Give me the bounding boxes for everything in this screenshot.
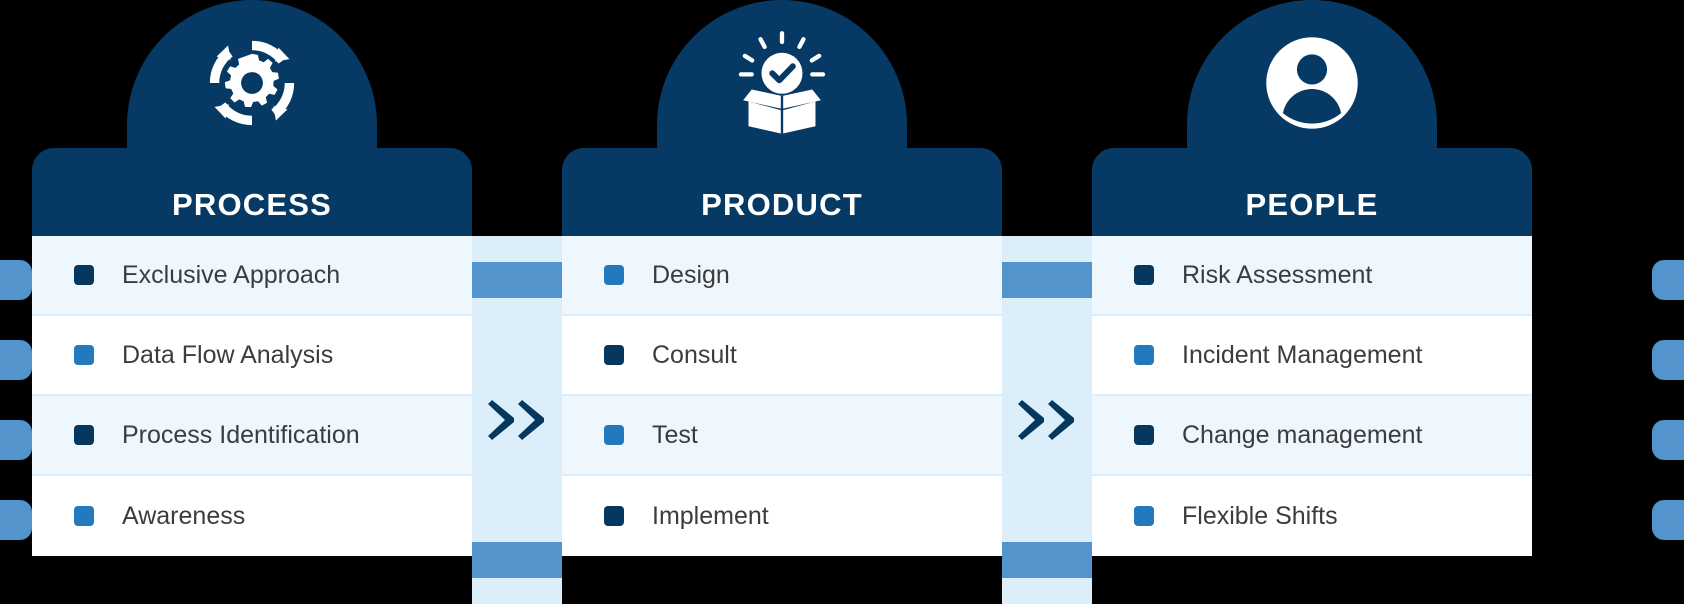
row-list-process: Exclusive Approach Data Flow Analysis Pr…	[32, 236, 472, 604]
connector-band-top	[1002, 262, 1092, 298]
row-label: Process Identification	[122, 423, 360, 448]
table-row[interactable]: Test	[562, 396, 1002, 476]
connector-band-bottom	[472, 542, 562, 578]
table-row[interactable]: Awareness	[32, 476, 472, 556]
table-row[interactable]: Exclusive Approach	[32, 236, 472, 316]
bullet-square-icon	[604, 425, 624, 445]
connector-band-top	[472, 262, 562, 298]
table-row[interactable]: Consult	[562, 316, 1002, 396]
column-title-product: PRODUCT	[701, 189, 863, 220]
table-row[interactable]: Flexible Shifts	[1092, 476, 1532, 556]
row-label: Test	[652, 423, 698, 448]
infographic-canvas: PROCESS Exclusive Approach Data Flow Ana…	[0, 0, 1684, 604]
row-label: Consult	[652, 343, 737, 368]
connector-process-to-product	[472, 236, 562, 604]
table-row[interactable]: Design	[562, 236, 1002, 316]
column-title-process: PROCESS	[172, 189, 332, 220]
edge-tab-left	[0, 420, 32, 460]
bullet-square-icon	[604, 265, 624, 285]
edge-tab-left	[0, 340, 32, 380]
row-list-product: Design Consult Test Implement	[562, 236, 1002, 604]
column-people: PEOPLE Risk Assessment Incident Manageme…	[1092, 0, 1532, 604]
bullet-square-icon	[604, 345, 624, 365]
process-gear-cycle-icon	[197, 28, 307, 138]
table-row[interactable]: Process Identification	[32, 396, 472, 476]
bullet-square-icon	[1134, 506, 1154, 526]
table-row[interactable]: Risk Assessment	[1092, 236, 1532, 316]
bullet-square-icon	[1134, 265, 1154, 285]
edge-tab-left	[0, 260, 32, 300]
bullet-square-icon	[74, 506, 94, 526]
people-person-avatar-icon	[1257, 28, 1367, 138]
header-bar-process: PROCESS	[32, 148, 472, 236]
row-label: Exclusive Approach	[122, 263, 340, 288]
row-label: Implement	[652, 504, 769, 529]
bullet-square-icon	[74, 425, 94, 445]
table-row[interactable]: Change management	[1092, 396, 1532, 476]
double-chevron-right-icon	[1016, 400, 1078, 440]
row-label: Change management	[1182, 423, 1422, 448]
bullet-square-icon	[74, 265, 94, 285]
connector-product-to-people	[1002, 236, 1092, 604]
table-row[interactable]: Data Flow Analysis	[32, 316, 472, 396]
bullet-square-icon	[604, 506, 624, 526]
row-label: Incident Management	[1182, 343, 1422, 368]
double-chevron-right-icon	[486, 400, 548, 440]
edge-tab-right	[1652, 500, 1684, 540]
row-label: Design	[652, 263, 730, 288]
row-label: Flexible Shifts	[1182, 504, 1338, 529]
row-label: Data Flow Analysis	[122, 343, 333, 368]
row-label: Awareness	[122, 504, 245, 529]
column-product: PRODUCT Design Consult Test Implement	[562, 0, 1002, 604]
edge-tab-left	[0, 500, 32, 540]
connector-band-bottom	[1002, 542, 1092, 578]
bullet-square-icon	[74, 345, 94, 365]
edge-tab-right	[1652, 340, 1684, 380]
header-bar-product: PRODUCT	[562, 148, 1002, 236]
column-title-people: PEOPLE	[1246, 189, 1379, 220]
row-label: Risk Assessment	[1182, 263, 1372, 288]
table-row[interactable]: Implement	[562, 476, 1002, 556]
bullet-square-icon	[1134, 345, 1154, 365]
edge-tab-right	[1652, 260, 1684, 300]
edge-tab-right	[1652, 420, 1684, 460]
table-row[interactable]: Incident Management	[1092, 316, 1532, 396]
column-process: PROCESS Exclusive Approach Data Flow Ana…	[32, 0, 472, 604]
bullet-square-icon	[1134, 425, 1154, 445]
product-box-check-icon	[727, 28, 837, 138]
row-list-people: Risk Assessment Incident Management Chan…	[1092, 236, 1532, 604]
header-bar-people: PEOPLE	[1092, 148, 1532, 236]
